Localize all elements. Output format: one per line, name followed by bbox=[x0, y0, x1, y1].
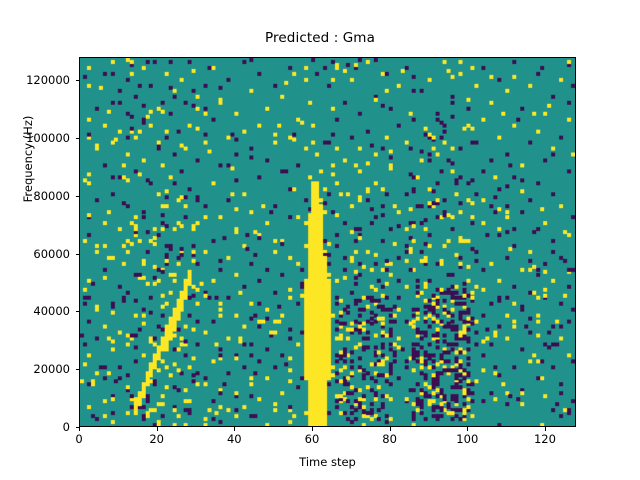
x-tick-mark bbox=[234, 427, 235, 431]
x-tick-label: 120 bbox=[534, 432, 556, 446]
y-tick-mark bbox=[76, 311, 80, 312]
y-tick-mark bbox=[76, 369, 80, 370]
spectrogram-image bbox=[80, 58, 575, 426]
x-tick-mark bbox=[545, 427, 546, 431]
x-tick-mark bbox=[467, 427, 468, 431]
y-tick-mark bbox=[76, 427, 80, 428]
y-tick-mark bbox=[76, 80, 80, 81]
x-tick-mark bbox=[390, 427, 391, 431]
x-tick-label: 60 bbox=[305, 432, 320, 446]
y-tick-mark bbox=[76, 254, 80, 255]
matplotlib-figure: Predicted : Gma Time step Frequency (Hz)… bbox=[0, 0, 640, 480]
heatmap-axes bbox=[79, 57, 576, 427]
y-tick-label: 20000 bbox=[0, 362, 70, 376]
y-tick-label: 80000 bbox=[0, 189, 70, 203]
y-tick-label: 100000 bbox=[0, 131, 70, 145]
x-tick-label: 0 bbox=[75, 432, 82, 446]
x-tick-mark bbox=[157, 427, 158, 431]
y-axis-label: Frequency (Hz) bbox=[21, 69, 35, 249]
x-axis-label: Time step bbox=[79, 455, 576, 469]
x-tick-label: 40 bbox=[227, 432, 242, 446]
y-tick-mark bbox=[76, 138, 80, 139]
y-tick-label: 0 bbox=[0, 420, 70, 434]
y-tick-label: 40000 bbox=[0, 304, 70, 318]
x-tick-mark bbox=[79, 427, 80, 431]
y-tick-mark bbox=[76, 196, 80, 197]
x-tick-mark bbox=[312, 427, 313, 431]
x-tick-label: 100 bbox=[456, 432, 478, 446]
chart-title: Predicted : Gma bbox=[0, 30, 640, 46]
x-tick-label: 20 bbox=[149, 432, 164, 446]
y-tick-label: 60000 bbox=[0, 247, 70, 261]
x-tick-label: 80 bbox=[382, 432, 397, 446]
y-tick-label: 120000 bbox=[0, 73, 70, 87]
